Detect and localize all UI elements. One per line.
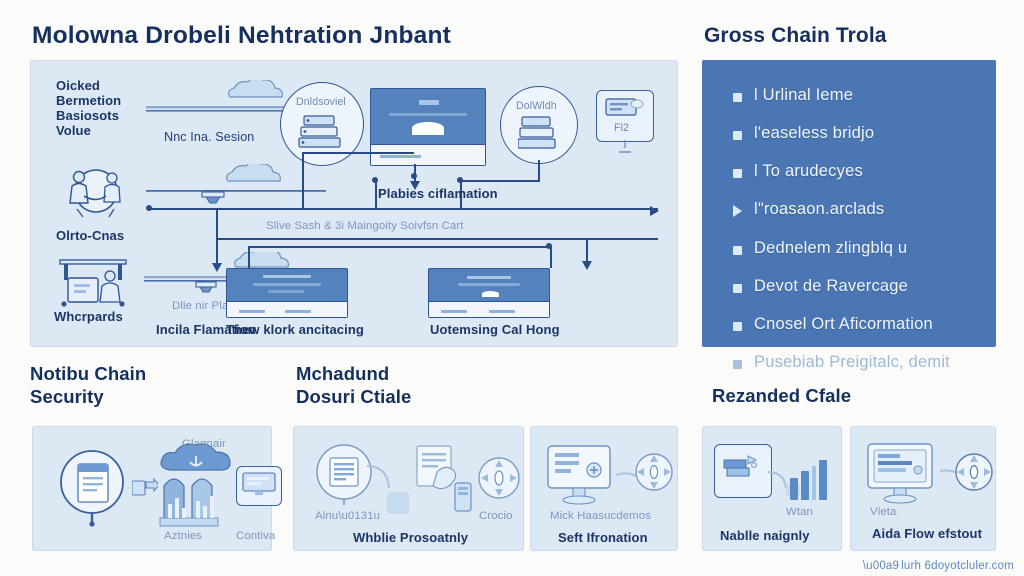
- sidebar-item-label: l"roasaon.arclads: [754, 200, 884, 219]
- wire-h-card-join: [248, 246, 552, 248]
- sidebar-panel: l Urlinal Ieme l'easeless bridjo l To ar…: [702, 60, 996, 347]
- card-panel-measured-left: Alnu\u0131u: [293, 426, 524, 551]
- wire-v-card-a: [248, 246, 250, 268]
- page-title: Molowna Drobeli Nehtration Jnbant: [32, 22, 451, 50]
- workstation-icon: [54, 254, 134, 310]
- data-silos-icon: [158, 468, 232, 530]
- bullet-square-icon: [733, 93, 742, 102]
- card-label-wtan: Wtan: [786, 506, 813, 518]
- gear-circle-icon: [954, 452, 994, 492]
- card-label-crocio: Crocio: [479, 510, 513, 522]
- sidebar-item-label: l'easeless bridjo: [754, 124, 874, 143]
- node-label-0: Dnldsoviel: [296, 96, 346, 108]
- bullet-square-icon: [733, 322, 742, 331]
- card-label-alnuiu: Alnu\u0131u: [315, 510, 380, 522]
- mobile-device-icon: [453, 482, 473, 514]
- bullet-triangle-icon: [733, 205, 742, 217]
- wire-v-circ2: [538, 160, 540, 180]
- node-label-3: Fl2: [614, 122, 629, 134]
- node-label-5: Thew klork ancitacing: [226, 322, 364, 337]
- chart-bar-3: [819, 460, 827, 500]
- result-card-left: [226, 268, 348, 318]
- card-caption-whblie: Whblie Prosoatnly: [353, 530, 468, 545]
- transfer-arrow-icon: [132, 478, 158, 500]
- terminal-icon: [604, 96, 644, 120]
- wire-h-circ2: [460, 180, 540, 182]
- card-caption-aida: Aida Flow efstout: [872, 526, 982, 541]
- card-label-aztnies: Aztnies: [164, 530, 202, 542]
- sidebar-item-label: l Urlinal Ieme: [754, 86, 853, 105]
- gear-circle-icon: [634, 452, 674, 492]
- sidebar-item-label: Devot de Ravercage: [754, 277, 908, 296]
- wire-h-left-box: [302, 152, 414, 154]
- card-panel-measured-right: Mick Haasucdemos Seft Ifronation: [530, 426, 678, 551]
- card-label-contiva: Contiva: [236, 530, 275, 542]
- card-label-glagnair: Glagnair: [182, 438, 226, 450]
- package-icon: [722, 452, 762, 486]
- infographic-root: Molowna Drobeli Nehtration Jnbant Oicked…: [0, 0, 1024, 576]
- node-label-4: Slive Sash & 3i Maingoity Soivfsn Cart: [266, 220, 464, 232]
- sidebar-item-0[interactable]: l Urlinal Ieme: [733, 86, 980, 105]
- bus-arrow-right: [650, 203, 660, 213]
- wire-arrow-sec-left: [212, 260, 222, 270]
- bus-dot-left: [146, 205, 152, 211]
- sidebar-item-label: l To arudecyes: [754, 162, 863, 181]
- card-title-rezanded: Rezanded Cfale: [712, 384, 972, 407]
- card-label-mick: Mick Haasucdemos: [550, 510, 651, 522]
- main-diagram-panel: Oicked Bermetion Basiosots Volue Olrto-C…: [30, 60, 678, 347]
- sidebar-item-3[interactable]: l"roasaon.arclads: [733, 200, 980, 219]
- card-panel-rezanded-left: Wtan Nablle naignly: [702, 426, 842, 551]
- wire-dot-monitor: [411, 173, 417, 179]
- sidebar-item-label: Dednelem zlingblq u: [754, 239, 907, 258]
- connector-curve: [367, 462, 401, 496]
- card-title-line-1: Security: [30, 385, 260, 408]
- wire-v-mid: [375, 180, 377, 208]
- wire-arrow-right-down: [582, 258, 592, 268]
- document-circle-icon: [313, 442, 375, 508]
- diagram-left-label-1: Olrto-Cnas: [56, 228, 124, 243]
- sidebar-item-4[interactable]: Dednelem zlingblq u: [733, 239, 980, 258]
- bus-line-secondary: [216, 238, 658, 240]
- chart-bar-1: [801, 471, 809, 500]
- sidebar-item-5[interactable]: Devot de Ravercage: [733, 277, 980, 296]
- wire-dot-card-b: [546, 243, 552, 249]
- bullet-square-icon: [733, 246, 742, 255]
- card-title-line-0: Notibu Chain: [30, 362, 260, 385]
- chart-bar-0: [790, 478, 798, 500]
- diagram-left-label-2: Whcrpards: [54, 309, 123, 324]
- card-title-line-0: Rezanded Cfale: [712, 384, 972, 407]
- bullet-square-icon: [733, 284, 742, 293]
- document-audit-icon: [54, 448, 130, 530]
- handshake-icon: [60, 164, 130, 222]
- card-panel-rezanded-right: Vleta Aida Flow efstout: [850, 426, 996, 551]
- card-panel-chain-security: Glagnair Aztnies: [32, 426, 272, 551]
- chart-bar-2: [812, 466, 816, 500]
- sidebar-item-7[interactable]: Pusebiab Preigitalc, demit: [733, 353, 980, 372]
- wire-v-sec-left: [216, 208, 218, 238]
- sidebar-item-2[interactable]: l To arudecyes: [733, 162, 980, 181]
- card-title-measured-chain: Mchadund Dosuri Ctiale: [296, 362, 546, 409]
- server-icon: [298, 112, 344, 152]
- bullet-square-icon: [733, 169, 742, 178]
- gear-circle-icon: [477, 456, 521, 500]
- node-label-1: Plabies ciflamation: [378, 186, 498, 201]
- wire-dot-circ2: [457, 177, 463, 183]
- card-title-line-0: Mchadund: [296, 362, 546, 385]
- monitor-icon: [242, 472, 276, 498]
- dashboard-monitor-icon: [866, 442, 940, 504]
- sidebar-bullet-list: l Urlinal Ieme l'easeless bridjo l To ar…: [733, 86, 980, 391]
- watermark: \u00a9lurh 6doyotcluler.com: [863, 560, 1014, 572]
- result-card-right: [428, 268, 550, 318]
- node-label-6: Uotemsing Cal Hong: [430, 322, 560, 337]
- terminal-stand: [618, 140, 632, 154]
- card-title-chain-security: Notibu Chain Security: [30, 362, 260, 409]
- secure-monitor-icon: [546, 444, 616, 506]
- rail-label-0: Nnc Ina. Sesion: [164, 130, 254, 144]
- grid-blob-icon: [387, 492, 409, 514]
- watermark-text: lurh 6doyotcluler.com: [901, 560, 1014, 572]
- card-caption-seft: Seft Ifronation: [558, 530, 648, 545]
- wire-v-card-b: [550, 246, 552, 268]
- sidebar-item-1[interactable]: l'easeless bridjo: [733, 124, 980, 143]
- node-label-2: DolWldh: [516, 100, 557, 112]
- wire-v-left-box: [302, 152, 304, 208]
- wire-dot-mid: [372, 177, 378, 183]
- primary-monitor: [370, 88, 486, 166]
- card-title-line-1: Dosuri Ctiale: [296, 385, 546, 408]
- bus-line-main: [148, 208, 658, 210]
- card-label-vleta: Vleta: [870, 506, 896, 518]
- bullet-square-icon: [733, 360, 742, 369]
- sidebar-item-label: Pusebiab Preigitalc, demit: [754, 353, 950, 372]
- sidebar-item-label: Cnosel Ort Aficormation: [754, 315, 933, 334]
- copyright-icon: \u00a9: [863, 560, 899, 572]
- card-caption-nablle: Nablle naignly: [720, 528, 810, 543]
- database-icon: [518, 114, 560, 150]
- sidebar-item-6[interactable]: Cnosel Ort Aficormation: [733, 315, 980, 334]
- sidebar-title: Gross Chain Trola: [704, 24, 887, 48]
- bullet-square-icon: [733, 131, 742, 140]
